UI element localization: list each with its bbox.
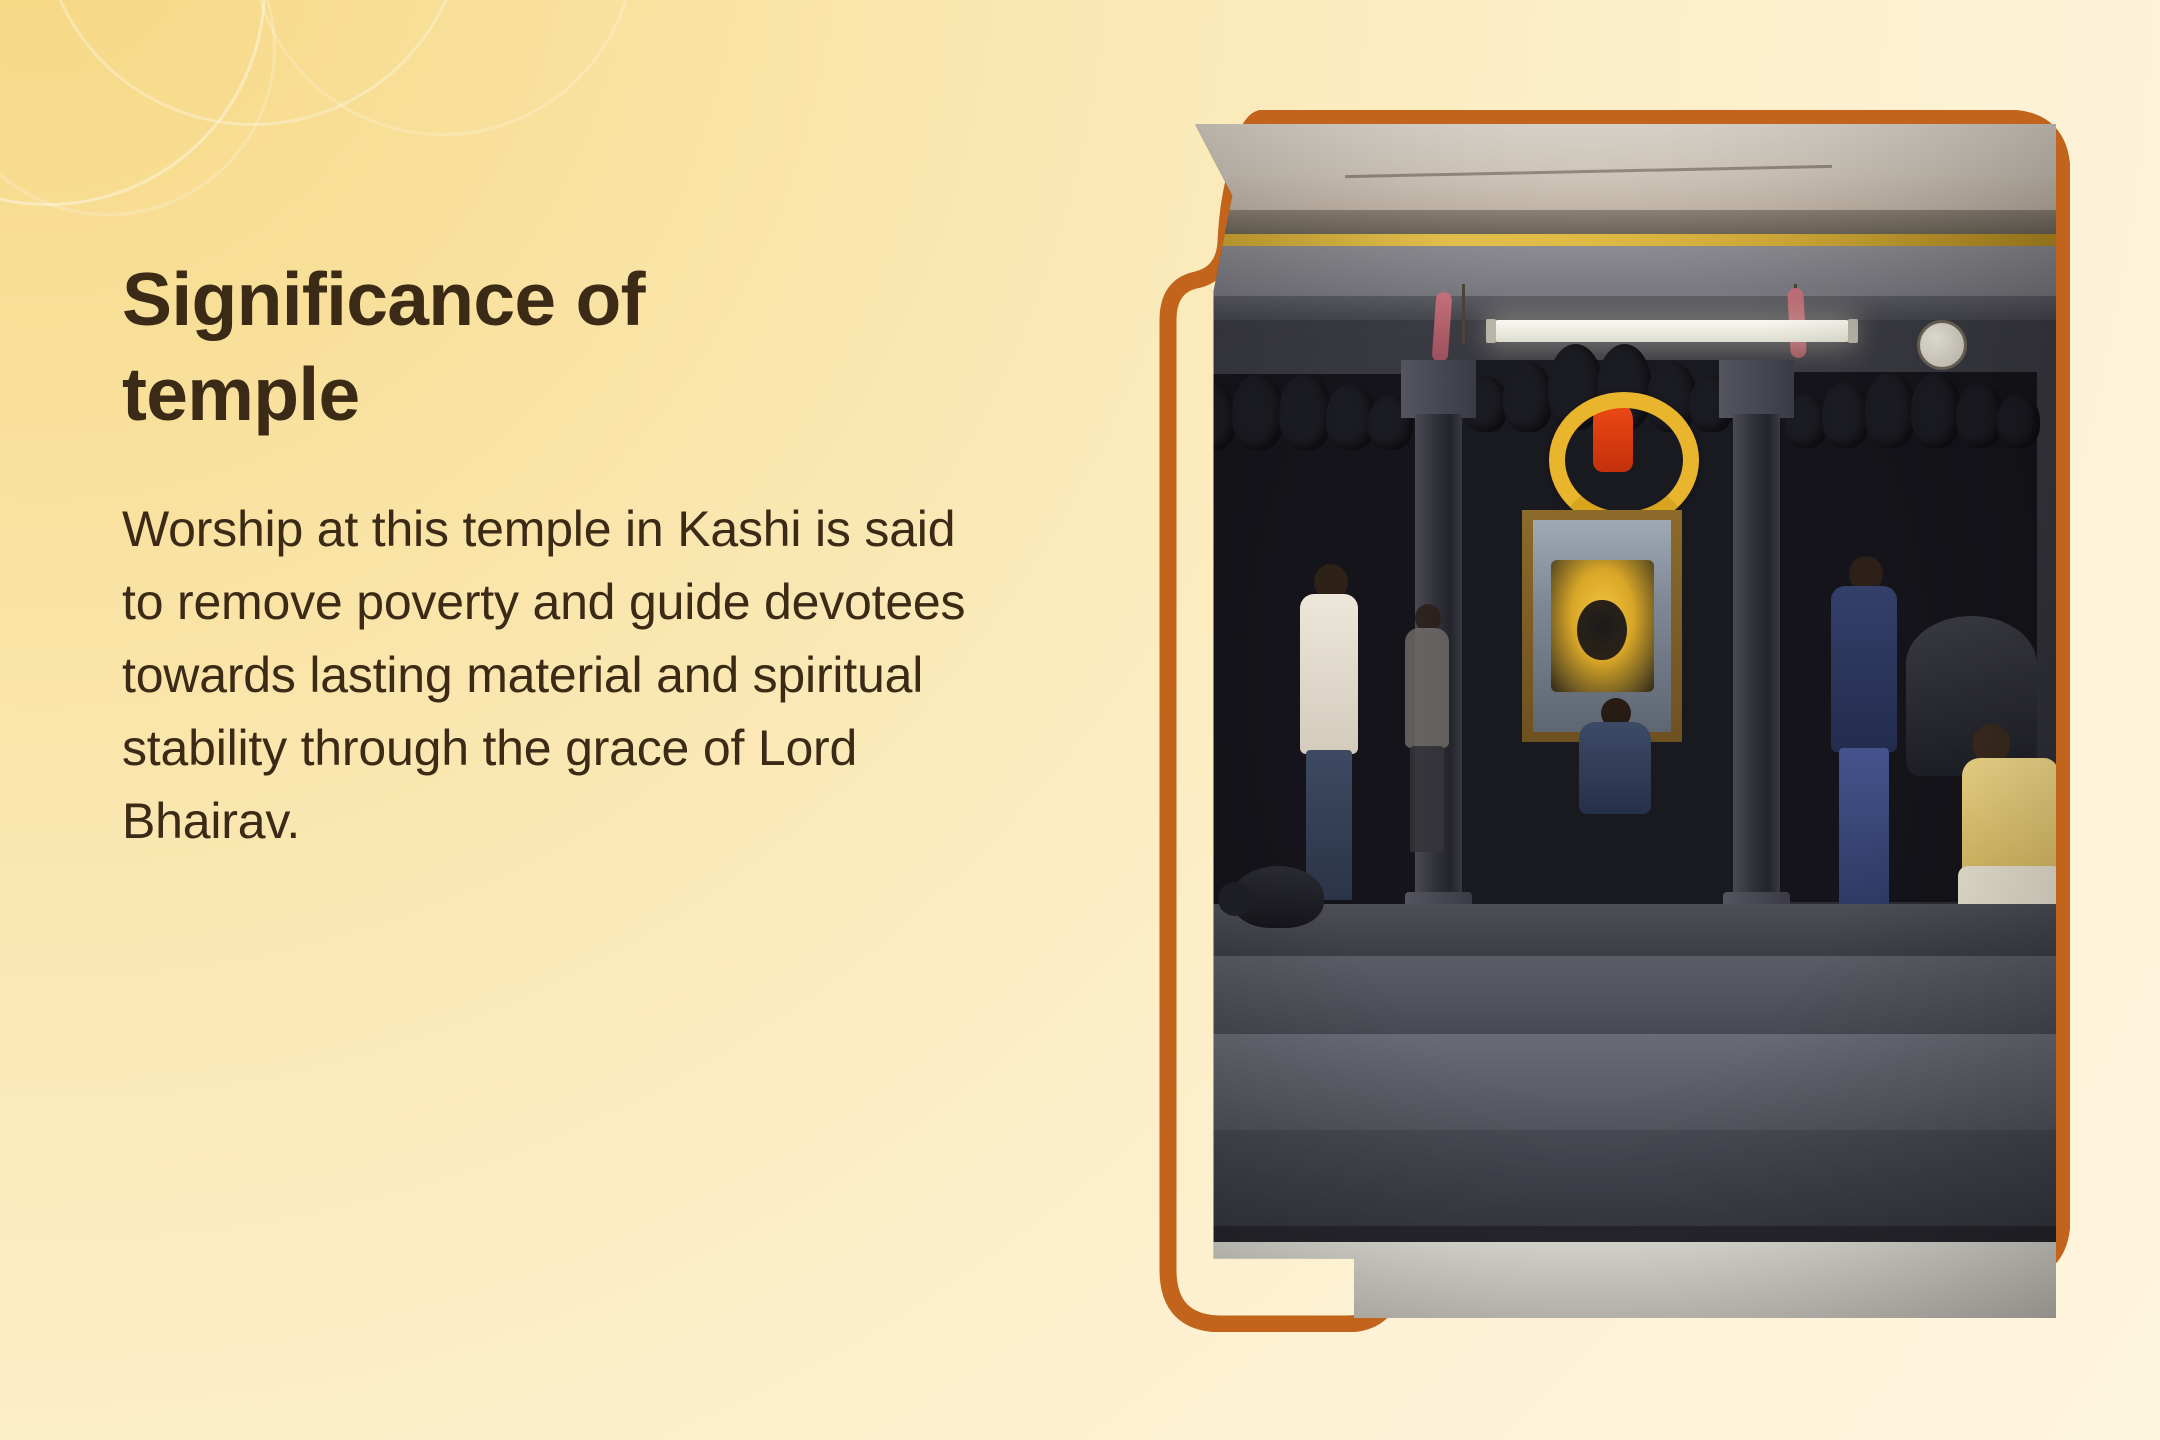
person-torso	[1831, 586, 1897, 752]
devotee-background	[1405, 604, 1451, 854]
body-paragraph: Worship at this temple in Kashi is said …	[122, 493, 1002, 858]
person-torso	[1405, 628, 1449, 748]
decor-circle-icon	[0, 0, 276, 216]
lintel-lower	[1120, 296, 2056, 322]
right-scalloped-arch	[1785, 360, 2038, 450]
hanging-wire	[1462, 284, 1465, 344]
floor-lower	[1120, 1130, 2056, 1226]
pillar-right	[1733, 414, 1780, 914]
deity-image	[1551, 560, 1654, 692]
text-column: Significance of temple Worship at this t…	[122, 252, 1002, 858]
nandi-statue-icon	[1232, 866, 1324, 928]
pillar-capital	[1719, 360, 1794, 418]
person-torso	[1300, 594, 1358, 754]
page-title: Significance of temple	[122, 252, 822, 441]
marigold-garland-icon	[1549, 392, 1699, 528]
temple-photo-frame	[1106, 110, 2070, 1332]
devotee-kneeling	[1579, 698, 1651, 838]
step-upper	[1120, 956, 2056, 1034]
temple-photo	[1120, 124, 2056, 1318]
person-legs	[1410, 746, 1444, 852]
person-torso	[1962, 758, 2056, 878]
person-legs	[1839, 748, 1889, 910]
devotee-standing-left	[1298, 564, 1360, 904]
deity-face	[1577, 600, 1626, 661]
devotee-standing-right	[1831, 556, 1899, 916]
pillar-capital	[1401, 360, 1476, 418]
lintel-upper	[1120, 246, 2056, 298]
slide-canvas: Significance of temple Worship at this t…	[0, 0, 2160, 1440]
seated-priest	[1962, 724, 2056, 914]
step-lower	[1120, 1034, 2056, 1130]
person-torso	[1579, 722, 1651, 814]
ceiling-beam	[1120, 210, 2056, 236]
